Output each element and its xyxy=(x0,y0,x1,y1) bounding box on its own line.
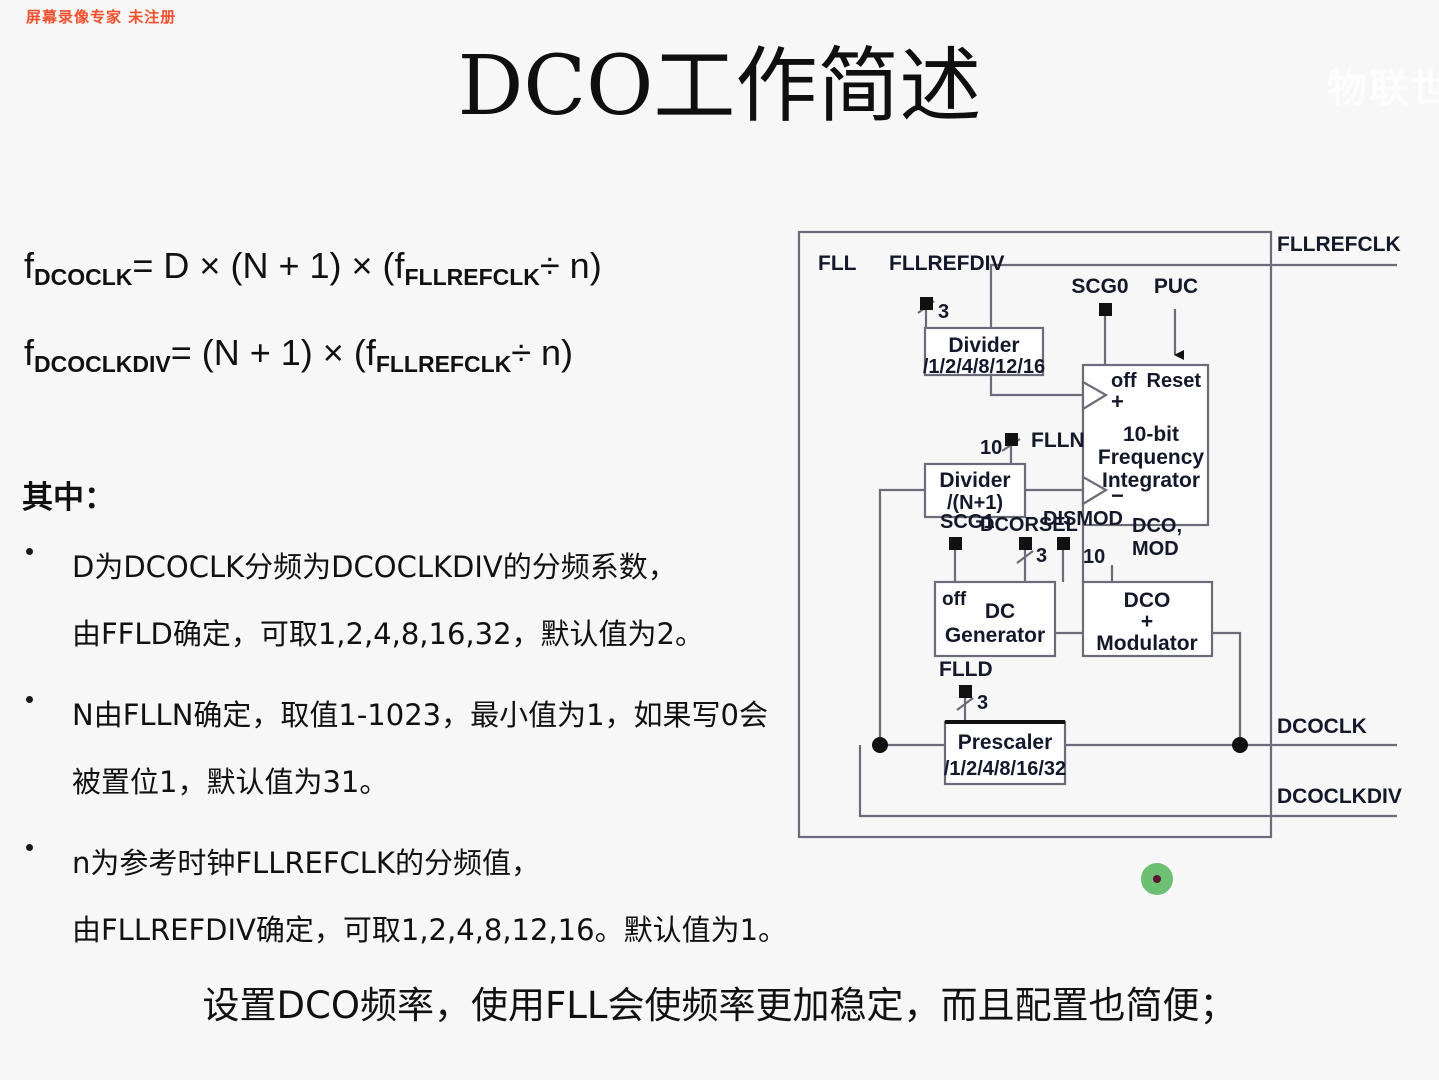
label-dco-mod-block-line2: + xyxy=(1141,610,1153,633)
bullet-dot-icon xyxy=(26,844,33,851)
label-dco-mod-block-line1: DCO xyxy=(1124,589,1171,612)
label-dc-generator-line2: Generator xyxy=(945,624,1045,647)
flld-node-icon xyxy=(959,685,972,698)
label-integrator-plus: + xyxy=(1111,389,1124,414)
formula-2-rhs-b: ÷ n) xyxy=(511,332,573,373)
label-dco-mod-block-line3: Modulator xyxy=(1096,632,1197,655)
bullet-1-line-1: D为DCOCLK分频为DCOCLKDIV的分频系数， xyxy=(72,534,780,601)
diagram-labels: FLL FLLREFCLK FLLREFDIV 3 SCG0 PUC FLLN … xyxy=(818,233,1402,808)
formula-1-base: f xyxy=(24,245,34,286)
label-dc-generator-off: off xyxy=(942,589,967,610)
formula-1-rhs-b: ÷ n) xyxy=(540,245,602,286)
formula-2-base: f xyxy=(24,332,34,373)
list-item: D为DCOCLK分频为DCOCLKDIV的分频系数， 由FFLD确定，可取1,2… xyxy=(20,534,780,668)
label-prescaler-line1: Prescaler xyxy=(958,731,1053,754)
label-dco-mod-line2: MOD xyxy=(1132,538,1179,560)
fllrefdiv-node-icon xyxy=(920,297,933,310)
scg0-node-icon xyxy=(1099,303,1112,316)
label-dismod: DISMOD xyxy=(1043,508,1123,530)
label-divider-n-line1: Divider xyxy=(939,469,1010,492)
bullet-list: D为DCOCLK分频为DCOCLKDIV的分频系数， 由FFLD确定，可取1,2… xyxy=(20,534,780,978)
bitwidth-flld: 3 xyxy=(977,692,988,714)
bitwidth-dcorsel: 3 xyxy=(1036,545,1047,567)
bullet-3-line-2: 由FLLREFDIV确定，可取1,2,4,8,12,16。默认值为1。 xyxy=(72,897,780,964)
label-integrator-reset: Reset xyxy=(1147,370,1202,392)
formula-dcoclk: fDCOCLK= D × (N + 1) × (fFLLREFCLK÷ n) xyxy=(24,245,602,287)
bitwidth-flln: 10 xyxy=(980,437,1002,459)
fll-block-diagram: FLL FLLREFCLK FLLREFDIV 3 SCG0 PUC FLLN … xyxy=(780,215,1420,855)
label-divider-ref-line2: /1/2/4/8/12/16 xyxy=(923,356,1045,378)
cursor-pointer-dot xyxy=(1153,875,1161,883)
dismod-node-icon xyxy=(1057,537,1070,550)
label-dc-generator-line1: DC xyxy=(985,600,1015,623)
label-dcoclkdiv: DCOCLKDIV xyxy=(1277,785,1402,808)
formula-2-subscript: DCOCLKDIV xyxy=(34,351,171,377)
junction-dot-right xyxy=(1232,737,1248,753)
presentation-slide: 屏幕录像专家 未注册 物联世 DCO工作简述 fDCOCLK= D × (N +… xyxy=(0,0,1439,1080)
label-prescaler-line2: /1/2/4/8/16/32 xyxy=(944,758,1066,780)
where-heading: 其中： xyxy=(22,472,115,517)
formula-1-rhs-subscript: FLLREFCLK xyxy=(405,264,540,290)
bullet-2-line-1: N由FLLN确定，取值1-1023，最小值为1，如果写0会 xyxy=(72,682,780,749)
label-integrator-line1: 10-bit xyxy=(1123,423,1179,446)
list-item: n为参考时钟FLLREFCLK的分频值， 由FLLREFDIV确定，可取1,2,… xyxy=(20,830,780,964)
bitwidth-dcomod: 10 xyxy=(1083,546,1105,568)
formula-2-rhs-subscript: FLLREFCLK xyxy=(376,351,511,377)
formula-2-rhs-a: = (N + 1) × (f xyxy=(171,332,376,373)
label-fllrefclk: FLLREFCLK xyxy=(1277,233,1401,256)
label-integrator-line3: Integrator xyxy=(1102,469,1200,492)
bullet-1-line-2: 由FFLD确定，可取1,2,4,8,16,32，默认值为2。 xyxy=(72,601,780,668)
label-fll: FLL xyxy=(818,252,857,275)
scg1-node-icon xyxy=(949,537,962,550)
label-flld: FLLD xyxy=(939,658,993,681)
bullet-dot-icon xyxy=(26,548,33,555)
junction-dot-left xyxy=(872,737,888,753)
slide-caption: 设置DCO频率，使用FLL会使频率更加稳定，而且配置也简便； xyxy=(0,975,1439,1029)
bullet-dot-icon xyxy=(26,696,33,703)
bullet-2-line-2: 被置位1，默认值为31。 xyxy=(72,749,780,816)
label-dco-mod-line1: DCO, xyxy=(1132,515,1182,537)
label-divider-ref-line1: Divider xyxy=(948,334,1019,357)
label-puc: PUC xyxy=(1154,275,1198,298)
dcorsel-node-icon xyxy=(1019,537,1032,550)
label-dcoclk: DCOCLK xyxy=(1277,715,1367,738)
label-flln: FLLN xyxy=(1031,429,1085,452)
label-integrator-line2: Frequency xyxy=(1098,446,1205,469)
bitwidth-refdiv: 3 xyxy=(938,301,949,323)
page-title: DCO工作简述 xyxy=(0,46,1439,128)
formula-1-rhs-a: = D × (N + 1) × (f xyxy=(132,245,404,286)
formula-1-subscript: DCOCLK xyxy=(34,264,132,290)
label-fllrefdiv: FLLREFDIV xyxy=(889,252,1005,275)
screen-recorder-watermark: 屏幕录像专家 未注册 xyxy=(26,6,176,27)
flln-node-icon xyxy=(1005,433,1018,446)
label-scg0: SCG0 xyxy=(1071,275,1128,298)
formula-dcoclkdiv: fDCOCLKDIV= (N + 1) × (fFLLREFCLK÷ n) xyxy=(24,332,573,374)
list-item: N由FLLN确定，取值1-1023，最小值为1，如果写0会 被置位1，默认值为3… xyxy=(20,682,780,816)
bullet-3-line-1: n为参考时钟FLLREFCLK的分频值， xyxy=(72,830,780,897)
